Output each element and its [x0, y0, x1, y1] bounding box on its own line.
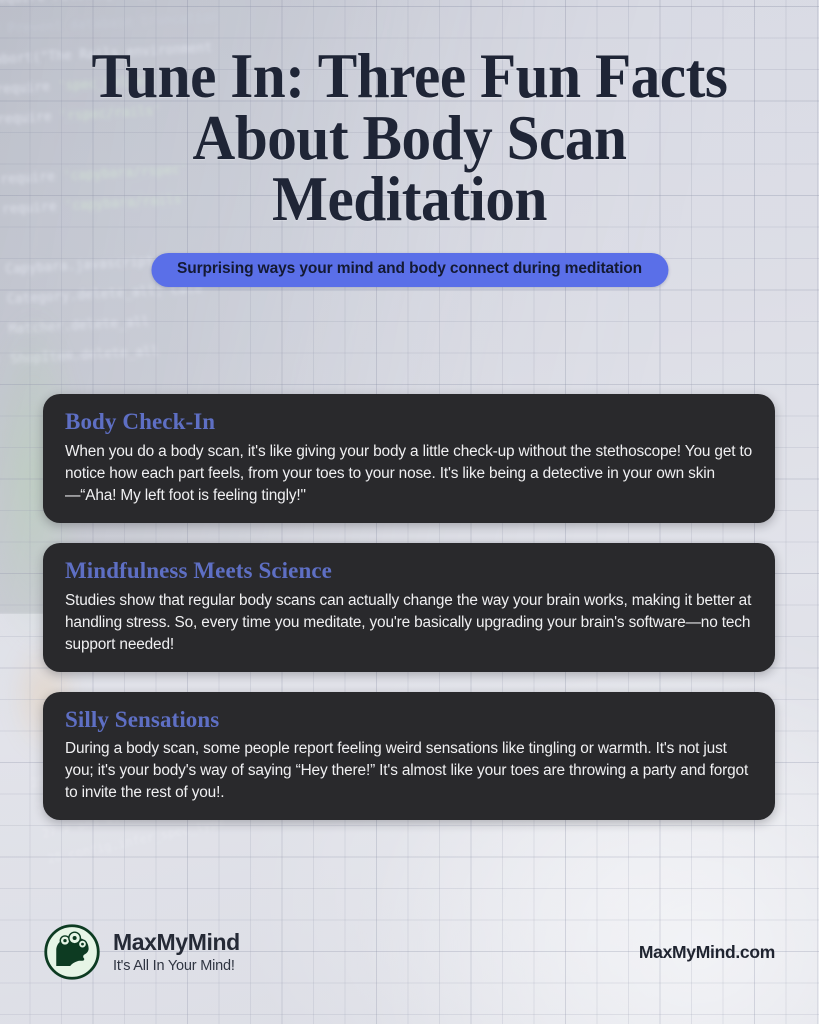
footer: MaxMyMind It's All In Your Mind! MaxMyMi…: [0, 916, 819, 988]
fact-card: Silly SensationsDuring a body scan, some…: [43, 692, 775, 821]
fact-card-body: Studies show that regular body scans can…: [65, 590, 753, 656]
brand-name: MaxMyMind: [113, 930, 240, 956]
subtitle-pill: Surprising ways your mind and body conne…: [151, 253, 668, 287]
poster-content: Tune In: Three Fun Facts About Body Scan…: [0, 0, 819, 1024]
infographic-poster: 1require File.expand_path(2# Prevent dat…: [0, 0, 819, 1024]
fact-card-body: During a body scan, some people report f…: [65, 738, 753, 804]
page-title: Tune In: Three Fun Facts About Body Scan…: [64, 46, 755, 231]
brand-text: MaxMyMind It's All In Your Mind!: [113, 930, 240, 974]
fact-card-heading: Mindfulness Meets Science: [65, 557, 753, 586]
brand-tagline: It's All In Your Mind!: [113, 958, 240, 974]
brand-block: MaxMyMind It's All In Your Mind!: [44, 924, 240, 980]
fact-card-heading: Body Check-In: [65, 408, 753, 437]
fact-card: Mindfulness Meets ScienceStudies show th…: [43, 543, 775, 672]
fact-card: Body Check-InWhen you do a body scan, it…: [43, 394, 775, 523]
head-with-gears-icon: [44, 924, 100, 980]
fact-card-heading: Silly Sensations: [65, 706, 753, 735]
site-url: MaxMyMind.com: [639, 942, 775, 963]
fact-card-body: When you do a body scan, it's like givin…: [65, 441, 753, 507]
fact-card-list: Body Check-InWhen you do a body scan, it…: [43, 394, 775, 840]
